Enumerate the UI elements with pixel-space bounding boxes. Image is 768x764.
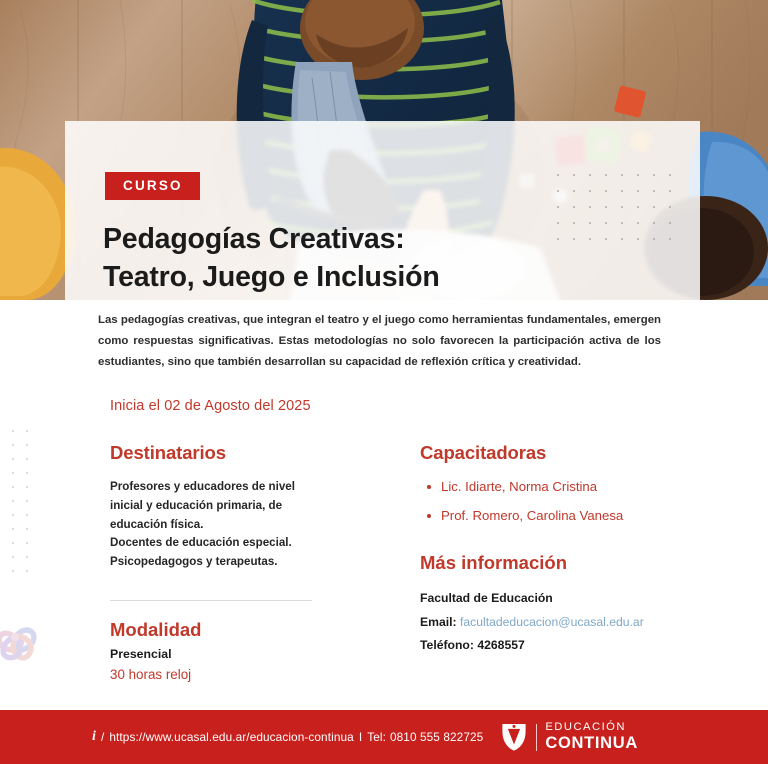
footer-url[interactable]: https://www.ucasal.edu.ar/educacion-cont…	[109, 730, 353, 744]
mas-informacion-heading: Más información	[420, 552, 710, 574]
course-flyer: CURSO Pedagogías Creativas: Teatro, Jueg…	[0, 0, 768, 764]
phone-label: Teléfono:	[420, 638, 474, 652]
capacitadoras-list: Lic. Idiarte, Norma Cristina Prof. Romer…	[426, 478, 710, 524]
destinatarios-line: Docentes de educación especial.	[110, 534, 335, 553]
logo-line-top: EDUCACIÓN	[545, 722, 638, 733]
destinatarios-heading: Destinatarios	[110, 442, 335, 464]
right-column: Capacitadoras Lic. Idiarte, Norma Cristi…	[420, 442, 710, 658]
curso-badge: CURSO	[105, 172, 200, 200]
modalidad-hours: 30 horas reloj	[110, 667, 335, 682]
destinatarios-line: educación física.	[110, 516, 335, 535]
page-title-line-2: Teatro, Juego e Inclusión	[103, 259, 440, 297]
faculty-name: Facultad de Educación	[420, 587, 710, 610]
logo-wordmark: EDUCACIÓN CONTINUA	[545, 722, 638, 752]
start-date: Inicia el 02 de Agosto del 2025	[110, 398, 311, 414]
floral-watermark-icon	[0, 598, 54, 676]
left-dot-grid-decoration	[0, 424, 30, 580]
dot-grid-decoration	[550, 167, 682, 245]
page-title: Pedagogías Creativas: Teatro, Juego e In…	[103, 221, 440, 297]
list-item: Lic. Idiarte, Norma Cristina	[426, 478, 710, 496]
destinatarios-line: inicial y educación primaria, de	[110, 497, 335, 516]
destinatarios-line: Profesores y educadores de nivel	[110, 478, 335, 497]
page-title-line-1: Pedagogías Creativas:	[103, 221, 440, 259]
phone-value: 4268557	[477, 638, 524, 652]
destinatarios-line: Psicopedagogos y terapeutas.	[110, 553, 335, 572]
lead-paragraph: Las pedagogías creativas, que integran e…	[98, 310, 661, 372]
footer-divider: I	[359, 730, 362, 744]
footer-tel-label: Tel:	[367, 730, 386, 744]
footer-bar: i / https://www.ucasal.edu.ar/educacion-…	[0, 710, 768, 764]
modalidad-type: Presencial	[110, 647, 335, 661]
logo-line-bottom: CONTINUA	[545, 735, 638, 752]
phone-row: Teléfono: 4268557	[420, 634, 710, 657]
section-divider	[110, 600, 312, 601]
email-label: Email:	[420, 615, 457, 629]
list-item: Prof. Romero, Carolina Vanesa	[426, 507, 710, 525]
logo-divider	[536, 724, 537, 751]
modalidad-heading: Modalidad	[110, 619, 335, 641]
footer-contact: i / https://www.ucasal.edu.ar/educacion-…	[92, 722, 638, 752]
capacitadoras-heading: Capacitadoras	[420, 442, 710, 464]
footer-separator: /	[101, 730, 104, 744]
brand-logo: EDUCACIÓN CONTINUA	[500, 722, 638, 752]
email-row: Email: facultadeducacion@ucasal.edu.ar	[420, 611, 710, 634]
email-link[interactable]: facultadeducacion@ucasal.edu.ar	[460, 615, 644, 629]
ucasal-shield-icon	[500, 722, 528, 752]
info-i-icon: i	[92, 729, 96, 745]
destinatarios-body: Profesores y educadores de nivel inicial…	[110, 478, 335, 572]
footer-tel-value: 0810 555 822725	[390, 730, 483, 744]
hero-card: CURSO Pedagogías Creativas: Teatro, Jueg…	[65, 121, 700, 300]
left-column: Destinatarios Profesores y educadores de…	[110, 442, 335, 682]
